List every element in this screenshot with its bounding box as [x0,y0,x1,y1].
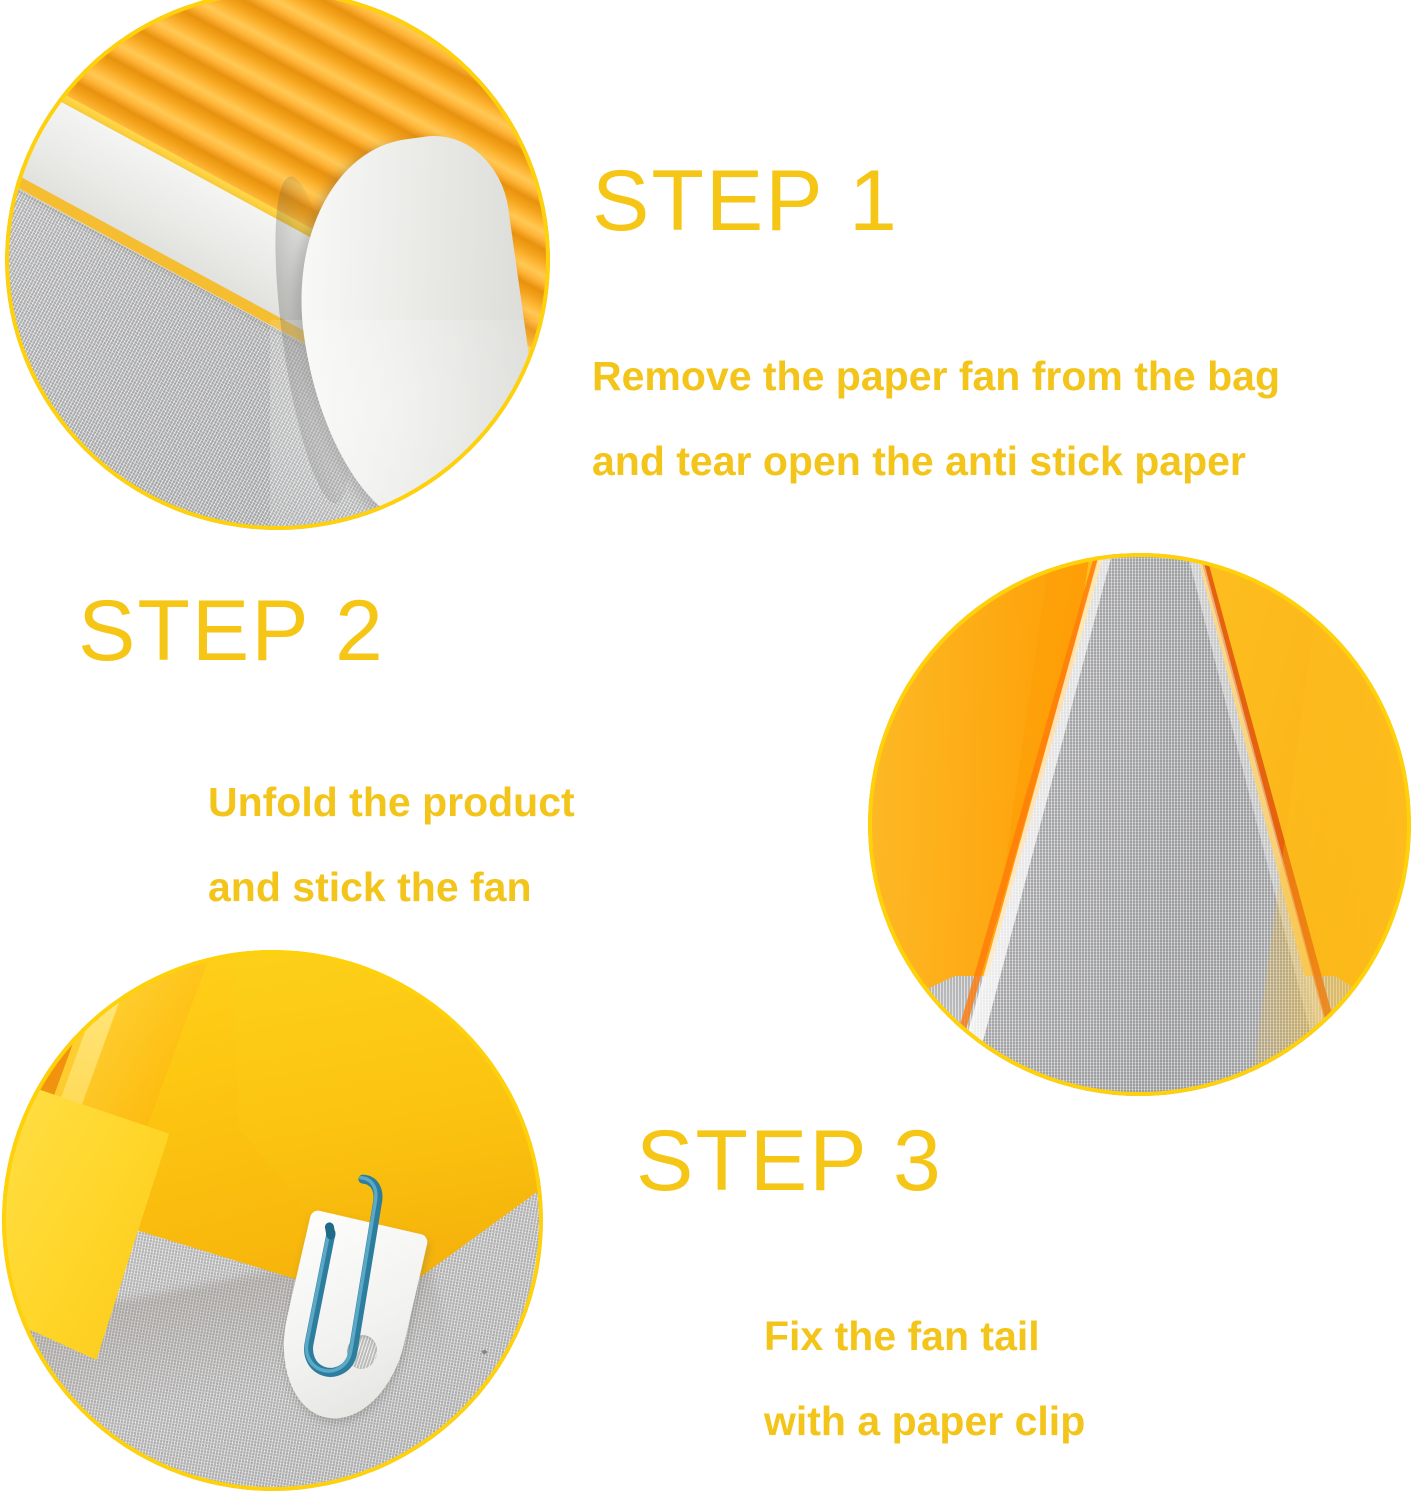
step-1-photo-content [5,0,550,530]
step-1-text-block: STEP 1 Remove the paper fan from the bag… [592,158,1280,482]
step-1-line-2: and tear open the anti stick paper [592,441,1280,482]
step-2-description: Unfold the product and stick the fan [78,782,575,908]
step-2-photo-circle [868,553,1411,1096]
step-3-photo-circle [2,950,543,1491]
surface-gloss-highlight [270,320,550,530]
step-2-line-2: and stick the fan [208,867,575,908]
step-2-heading: STEP 2 [78,588,575,674]
step-3-line-2: with a paper clip [764,1401,1085,1442]
step-1-heading: STEP 1 [592,158,1280,244]
step-1-line-1: Remove the paper fan from the bag [592,356,1280,397]
infographic-page: STEP 1 Remove the paper fan from the bag… [0,0,1427,1500]
step-3-text-block: STEP 3 Fix the fan tail with a paper cli… [636,1118,1085,1442]
step-1-description: Remove the paper fan from the bag and te… [592,356,1280,482]
step-3-line-1: Fix the fan tail [764,1316,1085,1357]
paper-clip-icon [290,1159,396,1395]
step-3-heading: STEP 3 [636,1118,1085,1204]
step-2-photo-content [868,553,1411,1096]
step-1-photo-circle [5,0,550,530]
step-2-line-1: Unfold the product [208,782,575,823]
step-3-description: Fix the fan tail with a paper clip [636,1316,1085,1442]
step-3-photo-content [2,950,543,1491]
surface-speck [482,1350,487,1354]
step-2-text-block: STEP 2 Unfold the product and stick the … [78,588,575,908]
